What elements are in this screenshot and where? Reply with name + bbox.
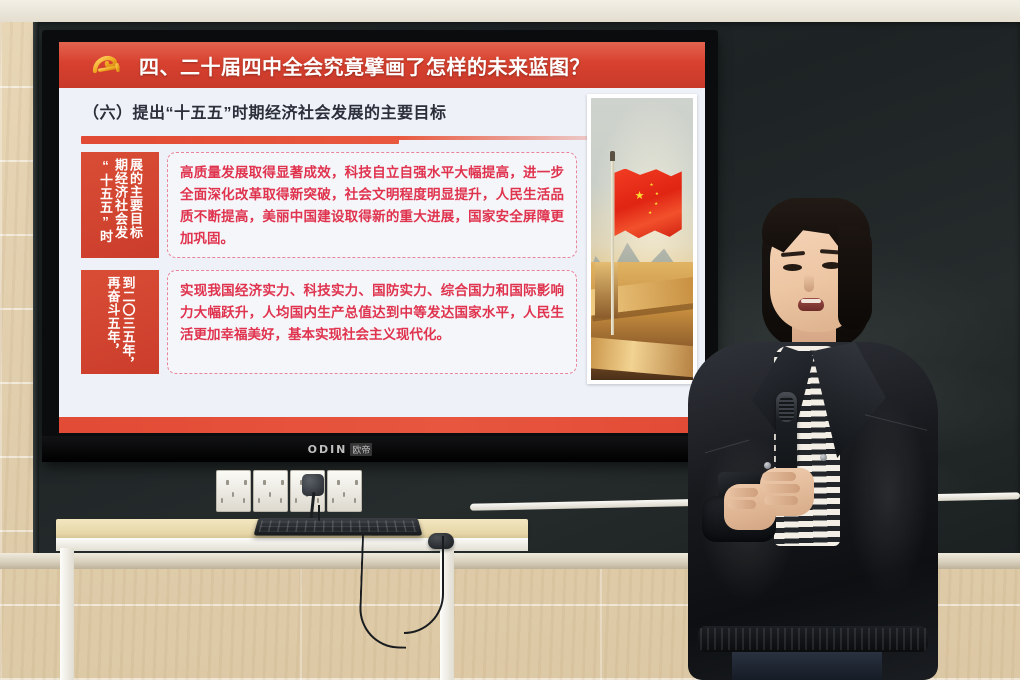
- odin-brand-logo: ODIN 欧帝: [308, 443, 373, 456]
- presenter-desk-apron: [56, 538, 528, 551]
- chalkboard-left-edge: [33, 22, 39, 558]
- slide-footer-bar: [59, 417, 705, 433]
- divider-thick: [81, 136, 399, 144]
- panel-bottom-bezel: ODIN 欧帝: [42, 436, 718, 462]
- presenter: [688, 196, 938, 680]
- vertical-label-column: 再奋斗五年，: [105, 276, 119, 368]
- flag-small-star: ★: [654, 202, 658, 207]
- nose: [804, 274, 814, 292]
- finger: [762, 472, 796, 481]
- vertical-label-column: 展的主要目标: [128, 158, 142, 252]
- finger: [728, 500, 756, 509]
- flag-great-wall-picture: ★ ★ ★ ★ ★: [587, 94, 697, 384]
- slide-title-text: 四、二十届四中全会究竟擘画了怎样的未来蓝图？: [139, 51, 590, 80]
- trousers: [732, 652, 882, 680]
- slide-divider: [81, 136, 581, 144]
- odin-brand-text: ODIN: [308, 443, 348, 456]
- content-block-1-text: 高质量发展取得显著成效，科技自立自强水平大幅提高，进一步全面深化改革取得新突破，…: [167, 152, 577, 258]
- content-block-1-label: 展的主要目标 期经济社会发 “十五五”时: [81, 152, 159, 258]
- wall-power-sockets[interactable]: [216, 470, 362, 512]
- eye: [783, 264, 802, 271]
- flag-pole: [611, 160, 613, 335]
- power-socket[interactable]: [327, 470, 362, 512]
- picture-canvas: ★ ★ ★ ★ ★: [591, 98, 693, 380]
- wall-top-trim: [0, 0, 1020, 22]
- slide-subtitle-text: （六）提出“十五五”时期经济社会发展的主要目标: [83, 99, 447, 123]
- keyboard-cable: [318, 505, 320, 521]
- slide-screen[interactable]: 四、二十届四中全会究竟擘画了怎样的未来蓝图？ （六）提出“十五五”时期经济社会发…: [59, 42, 705, 433]
- flag-large-star: ★: [635, 191, 645, 202]
- finger: [728, 488, 758, 497]
- divider-thin: [397, 136, 619, 140]
- chinese-flag-icon: ★ ★ ★ ★ ★: [614, 169, 681, 240]
- flag-small-star: ★: [648, 211, 652, 216]
- vertical-label-column: “十五五”时: [98, 158, 112, 252]
- classroom-scene: 四、二十届四中全会究竟擘画了怎样的未来蓝图？ （六）提出“十五五”时期经济社会发…: [0, 0, 1020, 680]
- power-socket[interactable]: [253, 470, 288, 512]
- jacket-hem: [698, 626, 928, 652]
- finger: [764, 496, 798, 505]
- content-block-2-label: 到二〇三五年， 再奋斗五年，: [81, 270, 159, 374]
- vertical-label-column: 到二〇三五年，: [121, 276, 135, 368]
- content-block-1: 展的主要目标 期经济社会发 “十五五”时 高质量发展取得显著成效，科技自立自强水…: [81, 152, 577, 258]
- flag-small-star: ★: [655, 192, 659, 197]
- flag-small-star: ★: [649, 183, 653, 188]
- mouth: [798, 298, 824, 311]
- party-emblem-icon: [89, 52, 125, 78]
- finger: [762, 484, 800, 493]
- slide-title-bar: 四、二十届四中全会究竟擘画了怎样的未来蓝图？: [59, 42, 705, 88]
- vertical-label-column: 期经济社会发: [113, 158, 127, 252]
- power-socket[interactable]: [216, 470, 251, 512]
- interactive-flat-panel[interactable]: 四、二十届四中全会究竟擘画了怎样的未来蓝图？ （六）提出“十五五”时期经济社会发…: [42, 30, 718, 462]
- odin-brand-text-cn: 欧帝: [350, 443, 372, 456]
- watch-tower: [595, 262, 617, 318]
- computer-keyboard[interactable]: [253, 518, 422, 536]
- hair-side: [838, 226, 872, 330]
- content-block-2: 到二〇三五年， 再奋斗五年， 实现我国经济实力、科技实力、国防实力、综合国力和国…: [81, 270, 577, 374]
- content-block-2-text: 实现我国经济实力、科技实力、国防实力、综合国力和国际影响力大幅跃升，人均国内生产…: [167, 270, 577, 374]
- jacket-button: [820, 454, 827, 461]
- desk-leg: [60, 548, 74, 680]
- desk-cable: [358, 535, 410, 649]
